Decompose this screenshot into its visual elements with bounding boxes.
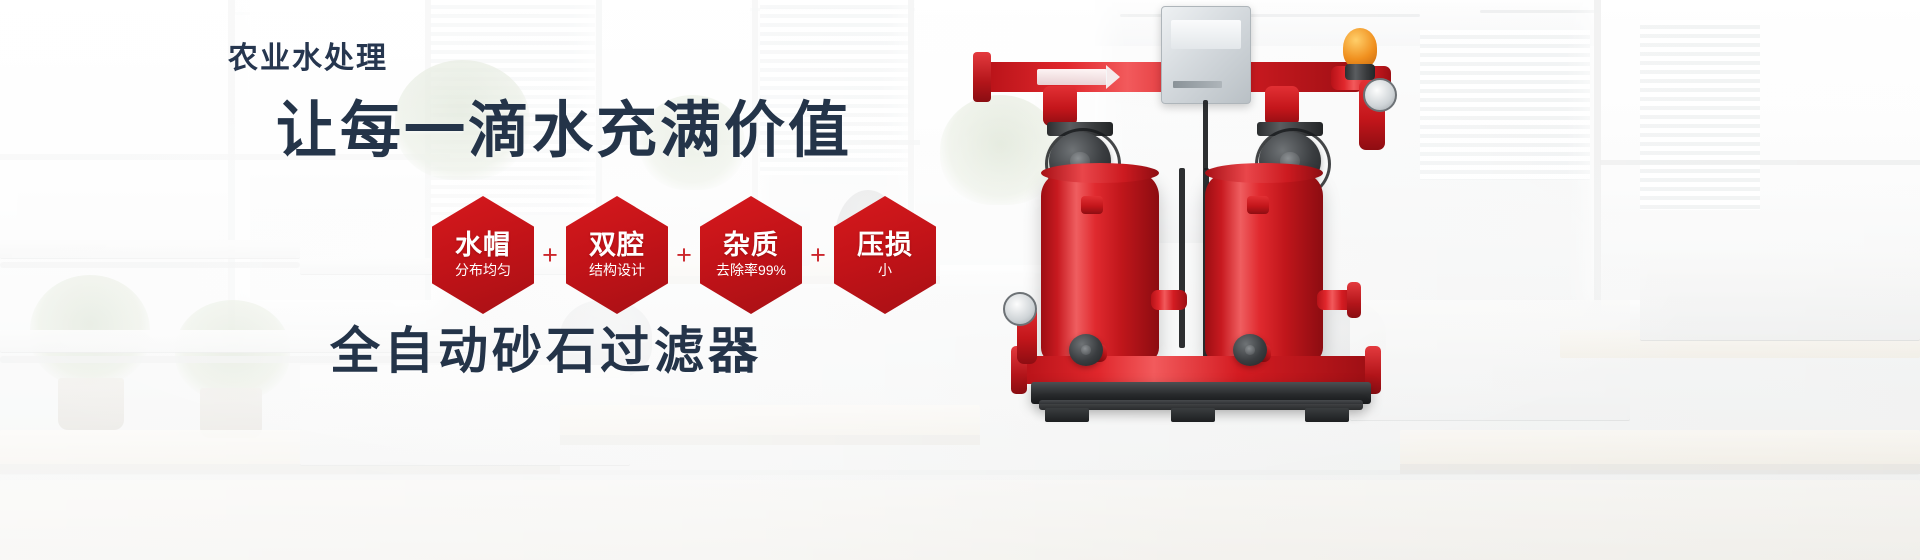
product-title: 全自动砂石过滤器	[330, 325, 762, 378]
hexagon-shape: 水帽 分布均匀	[432, 196, 534, 314]
banner-eyebrow: 农业水处理	[228, 44, 388, 74]
hexagon-shape: 双腔 结构设计	[566, 196, 668, 314]
control-box	[1161, 6, 1251, 104]
valve-lower-left	[1069, 334, 1103, 366]
feature-title: 杂质	[723, 231, 779, 260]
feature-badge-1: 水帽 分布均匀	[432, 196, 534, 314]
plus-separator-1: +	[534, 242, 566, 269]
feature-subtitle: 分布均匀	[455, 262, 511, 279]
banner-headline: 让每一滴水充满价值	[276, 98, 852, 162]
feature-badge-4: 压损 小	[834, 196, 936, 314]
feature-subtitle: 小	[878, 262, 892, 279]
feature-badge-2: 双腔 结构设计	[566, 196, 668, 314]
feature-badge-3: 杂质 去除率99%	[700, 196, 802, 314]
air-valve-icon	[1343, 28, 1377, 68]
valve-lower-right	[1233, 334, 1267, 366]
banner-copy: 农业水处理 让每一滴水充满价值 水帽 分布均匀 + 双腔 结构设计 + 杂质	[0, 0, 1020, 560]
feature-subtitle: 去除率99%	[716, 262, 786, 279]
pressure-gauge-top	[1363, 78, 1397, 112]
hexagon-shape: 压损 小	[834, 196, 936, 314]
hexagon-shape: 杂质 去除率99%	[700, 196, 802, 314]
product-sand-filter-image	[965, 0, 1525, 560]
feature-title: 水帽	[455, 231, 511, 260]
promo-banner: 农业水处理 让每一滴水充满价值 水帽 分布均匀 + 双腔 结构设计 + 杂质	[0, 0, 1920, 560]
plus-separator-3: +	[802, 242, 834, 269]
feature-title: 压损	[857, 231, 913, 260]
plus-separator-2: +	[668, 242, 700, 269]
feature-subtitle: 结构设计	[589, 262, 645, 279]
feature-badge-row: 水帽 分布均匀 + 双腔 结构设计 + 杂质 去除率99% +	[432, 196, 936, 314]
feature-title: 双腔	[589, 231, 645, 260]
